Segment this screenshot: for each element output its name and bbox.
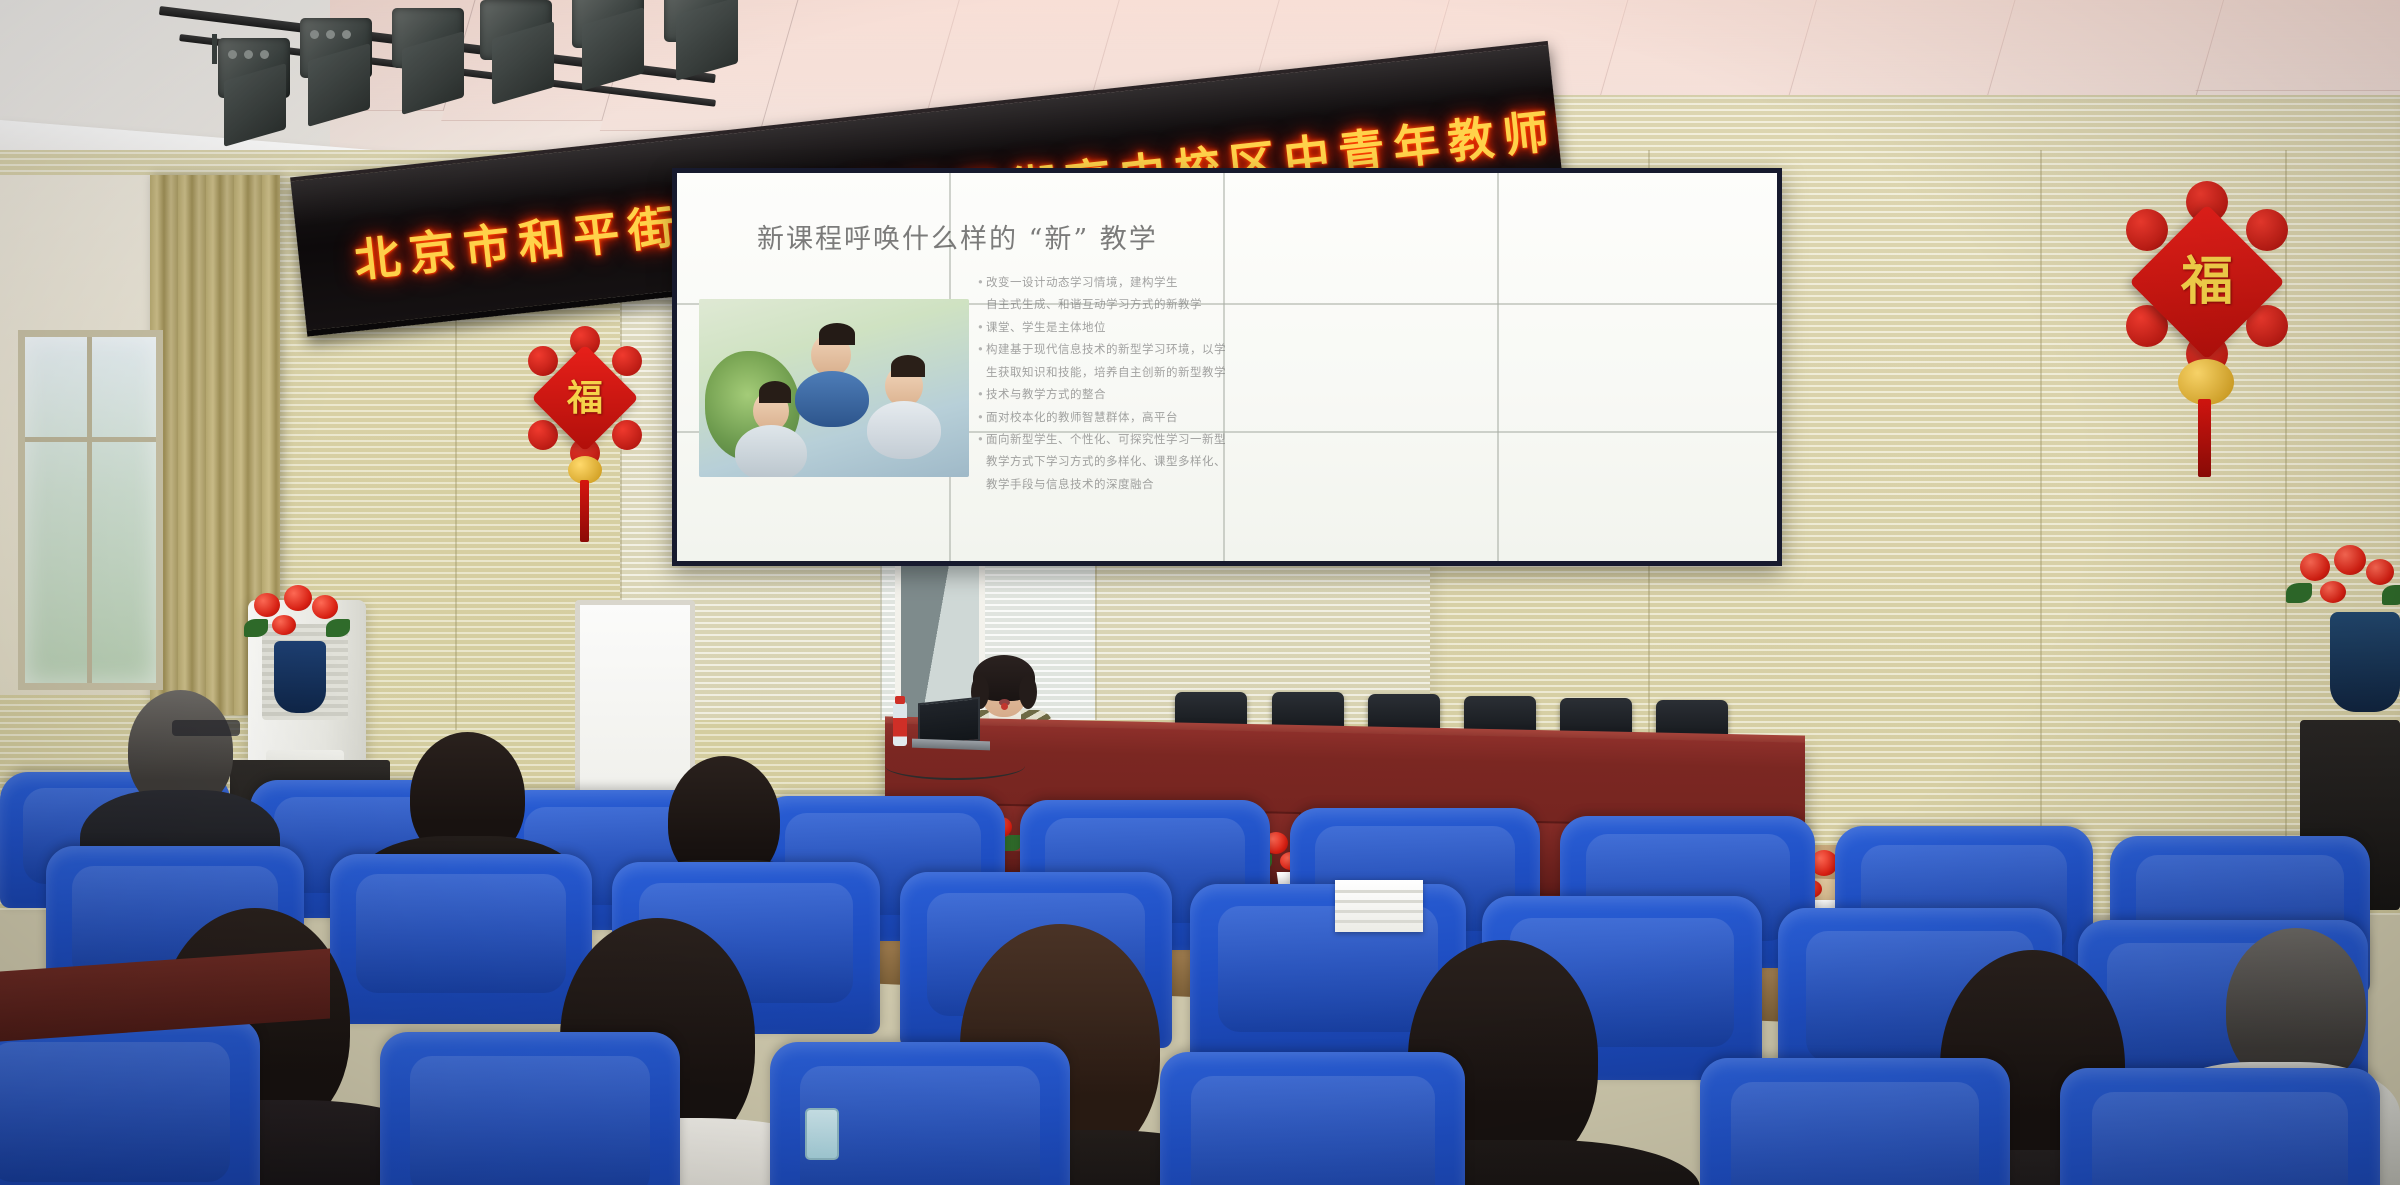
audience-chair-front[interactable] — [380, 1032, 680, 1185]
slide-bullet: 教学方式下学习方式的多样化、课型多样化、 — [977, 450, 1277, 472]
eyeglasses — [172, 720, 240, 736]
slide-bullet: •构建基于现代信息技术的新型学习环境，以学 — [977, 338, 1277, 360]
slide-photo — [699, 299, 969, 477]
cable — [885, 752, 1025, 780]
auditorium-photo: 北京市和平街第一中学和平街高中校区中青年教师协会活动 — [0, 0, 2400, 1185]
vase — [274, 641, 326, 713]
water-bottle-cap — [895, 696, 905, 704]
audience-chair-front[interactable] — [2060, 1068, 2380, 1185]
slide-bullet: 自主式生成、和谐互动学习方式的新教学 — [977, 293, 1277, 315]
water-bottle — [893, 702, 907, 746]
slide-title: 新课程呼唤什么样的 “新” 教学 — [757, 217, 1237, 256]
slide-bullet: •面对校本化的教师智慧群体，高平台 — [977, 406, 1277, 428]
window — [18, 330, 163, 690]
audience-chair-front[interactable] — [0, 1018, 260, 1185]
audience-chair-front[interactable] — [1700, 1058, 2010, 1185]
slide-bullet: 生获取知识和技能，培养自主创新的新型教学 — [977, 361, 1277, 383]
knot-fu-character-right: 福 — [2152, 253, 2262, 311]
presenter-hair-right — [1019, 675, 1037, 709]
slide-bullet: •课堂、学生是主体地位 — [977, 316, 1277, 338]
audience-chair[interactable] — [330, 854, 592, 1024]
presenter-microphone — [1001, 703, 1008, 710]
vase-right — [2330, 612, 2400, 712]
paper-stack — [1335, 880, 1423, 932]
audience-area — [0, 800, 2400, 1185]
slide-bullets: •改变一设计动态学习情境，建构学生 自主式生成、和谐互动学习方式的新教学 •课堂… — [977, 271, 1277, 495]
audience-chair-front[interactable] — [1160, 1052, 1465, 1185]
slide-bullet: 教学手段与信息技术的深度融合 — [977, 473, 1277, 495]
slide-bullet: •改变一设计动态学习情境，建构学生 — [977, 271, 1277, 293]
projection-screen: 新课程呼唤什么样的 “新” 教学 •改变一设计动态学习情境，建构学生 自主式生成… — [677, 173, 1777, 561]
chinese-knot-right: 福 — [2120, 175, 2295, 475]
slide-bullet: •面向新型学生、个性化、可探究性学习一新型 — [977, 428, 1277, 450]
smartphone[interactable] — [805, 1108, 839, 1160]
slide-bullet: •技术与教学方式的整合 — [977, 383, 1277, 405]
knot-fu-character-left: 福 — [547, 378, 623, 418]
projection-screen-frame: 新课程呼唤什么样的 “新” 教学 •改变一设计动态学习情境，建构学生 自主式生成… — [672, 168, 1782, 566]
chinese-knot-left: 福 — [520, 320, 650, 550]
wall-seam — [2040, 150, 2042, 910]
